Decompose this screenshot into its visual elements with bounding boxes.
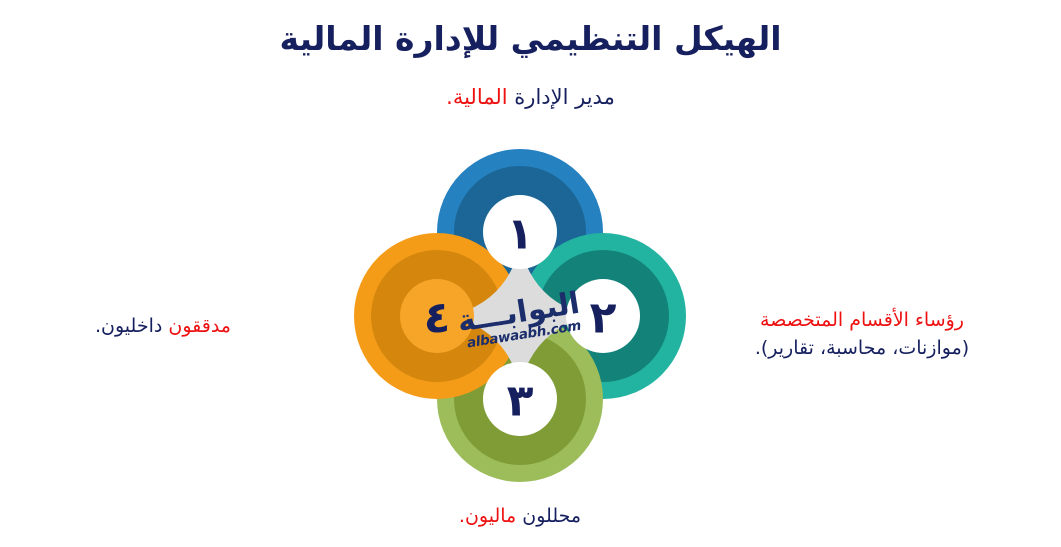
page-subtitle: مدير الإدارة المالية. xyxy=(0,84,1061,111)
label-department-heads-line1: رؤساء الأقسام المتخصصة xyxy=(692,307,1032,335)
petal-right-numeral: ٢ xyxy=(590,293,617,344)
label-department-heads: رؤساء الأقسام المتخصصة (موازنات، محاسبة،… xyxy=(692,307,1032,362)
petal-top-numeral: ١ xyxy=(507,209,534,260)
label-department-heads-line2: (موازنات، محاسبة، تقارير). xyxy=(692,335,1032,363)
label-internal-auditors-part1: مدققون xyxy=(168,315,231,337)
four-petal-diagram: ١ ٢ ٣ ٤ البوابـــة albawaabh.com xyxy=(352,140,692,492)
label-financial-analysts: محللون ماليون. xyxy=(330,503,710,531)
slide-canvas: الهيكل التنظيمي للإدارة المالية مدير الإ… xyxy=(0,0,1061,547)
page-subtitle-part2: المالية. xyxy=(446,85,507,109)
page-title: الهيكل التنظيمي للإدارة المالية xyxy=(0,18,1061,59)
page-subtitle-part1: مدير الإدارة xyxy=(514,85,615,109)
petal-bottom-numeral: ٣ xyxy=(507,376,534,427)
label-financial-analysts-part1: محللون xyxy=(522,505,581,527)
petal-left-numeral: ٤ xyxy=(424,293,451,344)
label-internal-auditors-part2: داخليون. xyxy=(95,315,162,337)
label-internal-auditors: مدققون داخليون. xyxy=(38,313,288,341)
label-financial-analysts-part2: ماليون. xyxy=(459,505,516,527)
